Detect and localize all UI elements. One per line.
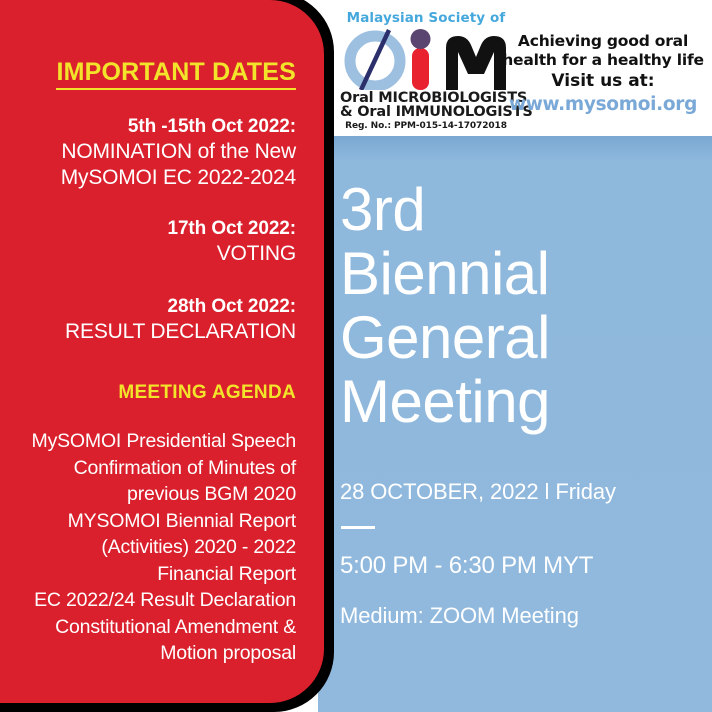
event-title-line-3: General — [340, 306, 700, 370]
agenda-item: (Activities) 2020 - 2022 — [0, 534, 296, 561]
event-title: 3rd Biennial General Meeting — [340, 178, 700, 434]
agenda-item: EC 2022/24 Result Declaration — [0, 587, 296, 614]
event-details: 28 OCTOBER, 2022 l Friday 5:00 PM - 6:30… — [340, 478, 700, 631]
date-entry-date: 5th -15th Oct 2022: — [0, 114, 296, 139]
important-dates-heading-text: IMPORTANT DATES — [56, 58, 296, 90]
date-entry-label-line1: NOMINATION of the New — [0, 139, 296, 165]
header-white-band: Malaysian Society of Oral MICROBIOLOGIST… — [318, 0, 712, 136]
date-entry-label-line1: VOTING — [0, 241, 296, 267]
date-entry-date: 17th Oct 2022: — [0, 216, 296, 241]
logo-society-text: Malaysian Society of — [340, 10, 512, 26]
meeting-agenda-heading: MEETING AGENDA — [0, 382, 310, 404]
meeting-agenda-heading-text: MEETING AGENDA — [118, 382, 296, 403]
important-dates-heading: IMPORTANT DATES — [0, 58, 310, 87]
logo-registration-number: Reg. No.: PPM-015-14-17072018 — [340, 121, 512, 131]
tagline-line-one: Achieving good oral — [496, 32, 710, 51]
event-time: 5:00 PM - 6:30 PM MYT — [340, 551, 700, 581]
agenda-item: MYSOMOI Biennial Report — [0, 508, 296, 535]
poster-canvas: Malaysian Society of Oral MICROBIOLOGIST… — [0, 0, 712, 712]
oim-logomark-icon — [342, 28, 510, 90]
event-title-line-1: 3rd — [340, 178, 700, 242]
agenda-item: Constitutional Amendment & — [0, 614, 296, 641]
tagline-line-two: health for a healthy life — [496, 51, 710, 70]
agenda-item: previous BGM 2020 — [0, 481, 296, 508]
event-title-line-4: Meeting — [340, 370, 700, 434]
red-panel-content: IMPORTANT DATES 5th -15th Oct 2022: NOMI… — [0, 0, 314, 703]
agenda-item: MySOMOI Presidential Speech — [0, 428, 296, 455]
event-medium: Medium: ZOOM Meeting — [340, 601, 700, 631]
agenda-item: Confirmation of Minutes of — [0, 455, 296, 482]
red-panel: IMPORTANT DATES 5th -15th Oct 2022: NOMI… — [0, 0, 324, 703]
red-panel-outline: IMPORTANT DATES 5th -15th Oct 2022: NOMI… — [0, 0, 334, 712]
details-divider — [341, 526, 375, 529]
date-entry-date: 28th Oct 2022: — [0, 294, 296, 319]
date-entry-nomination: 5th -15th Oct 2022: NOMINATION of the Ne… — [0, 114, 310, 191]
logo-line-two: & Oral IMMUNOLOGISTS — [340, 104, 512, 120]
date-entry-result-declaration: 28th Oct 2022: RESULT DECLARATION — [0, 294, 310, 345]
website-url-link[interactable]: www.mysomoi.org — [496, 93, 710, 116]
date-entry-voting: 17th Oct 2022: VOTING — [0, 216, 310, 267]
date-entry-label-line2: MySOMOI EC 2022-2024 — [0, 165, 296, 191]
agenda-item: Financial Report — [0, 561, 296, 588]
event-title-line-2: Biennial — [340, 242, 700, 306]
date-entry-label-line1: RESULT DECLARATION — [0, 319, 296, 345]
meeting-agenda-list: MySOMOI Presidential Speech Confirmation… — [0, 428, 310, 667]
mysomoi-logo: Malaysian Society of Oral MICROBIOLOGIST… — [340, 8, 512, 134]
tagline-visit-label: Visit us at: — [496, 71, 710, 92]
event-date: 28 OCTOBER, 2022 l Friday — [340, 478, 700, 506]
agenda-item: Motion proposal — [0, 640, 296, 667]
tagline-block: Achieving good oral health for a healthy… — [496, 32, 710, 116]
right-column: Malaysian Society of Oral MICROBIOLOGIST… — [318, 0, 712, 712]
